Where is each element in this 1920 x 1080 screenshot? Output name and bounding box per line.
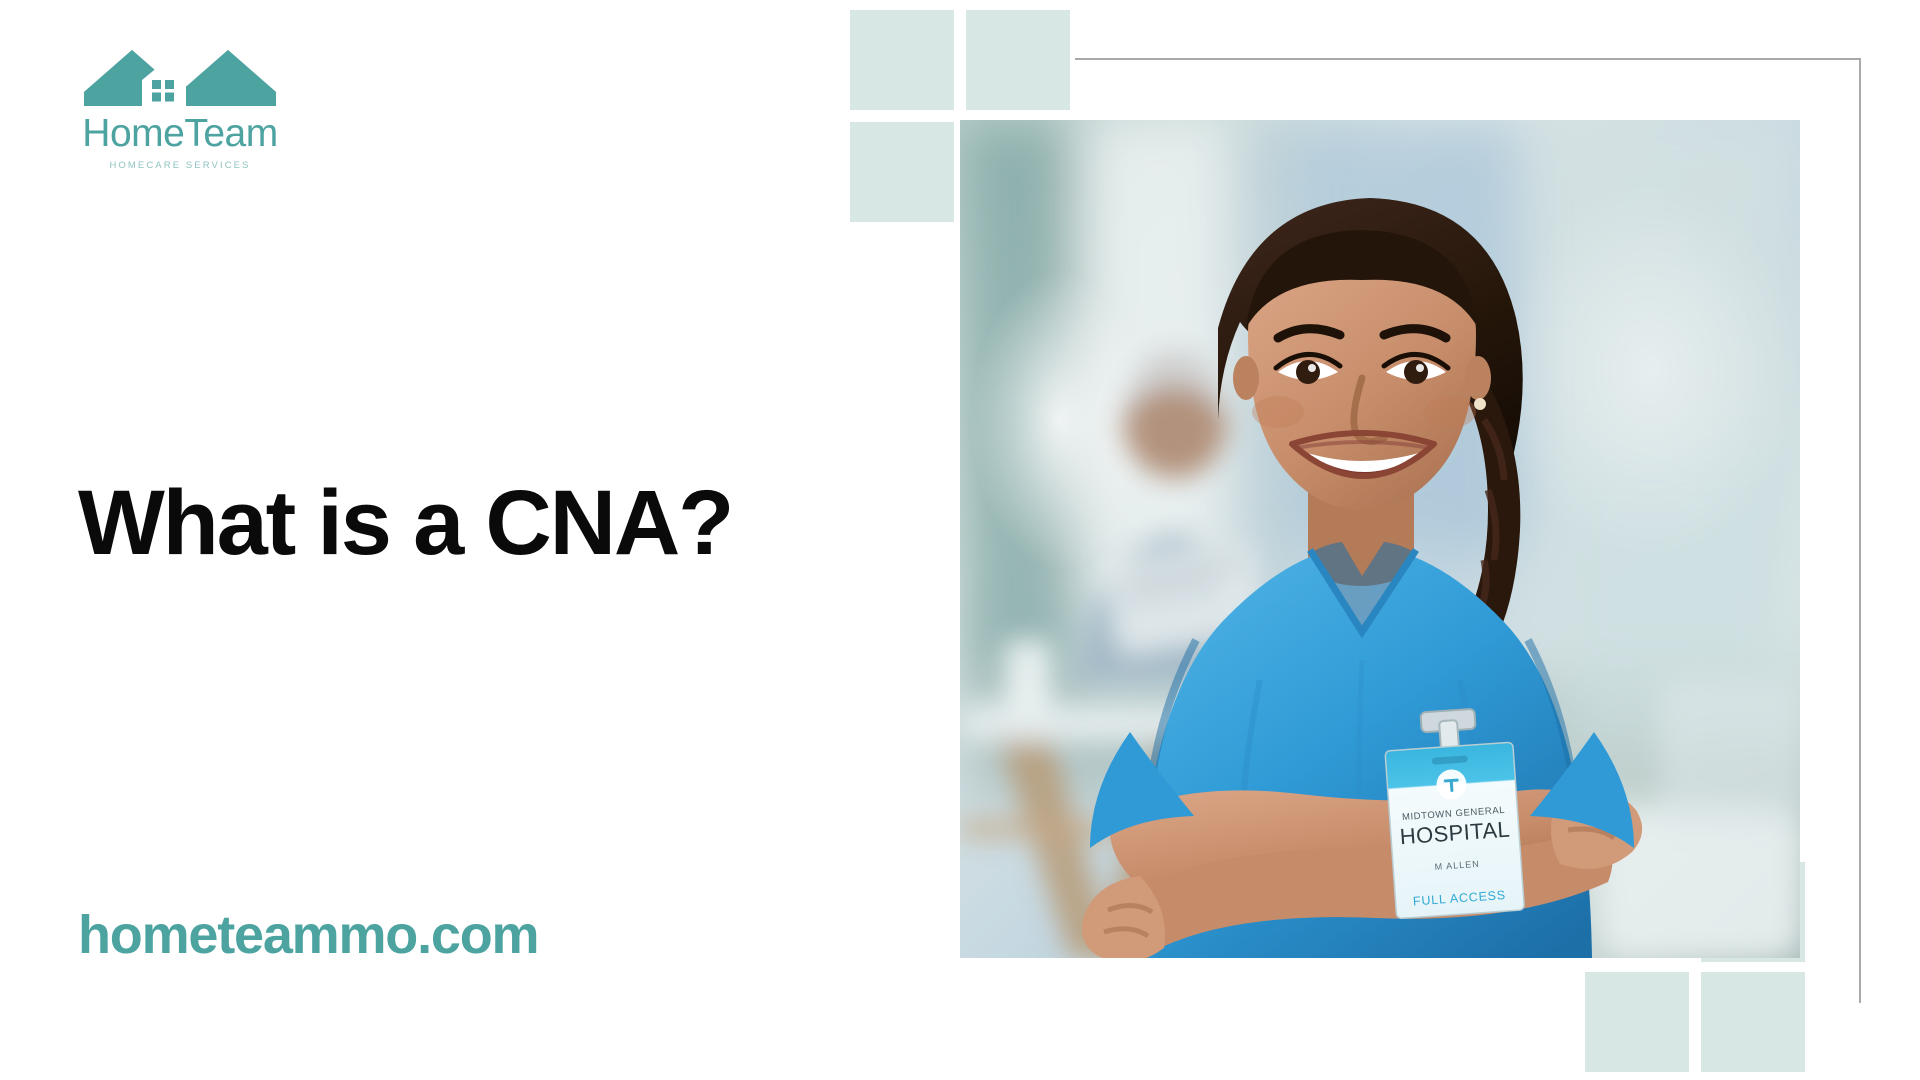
frame-line-top <box>1075 58 1861 60</box>
decor-square-bottom-3 <box>1701 972 1805 1072</box>
decor-square-top-1 <box>850 10 954 110</box>
logo-tagline: HOMECARE SERVICES <box>80 160 280 171</box>
logo-wordmark: HomeTeam <box>80 114 280 153</box>
photo-alt-text: Smiling nurse in blue scrubs with arms c… <box>0 0 1 1</box>
decor-square-top-3 <box>850 122 954 222</box>
decor-square-top-2 <box>966 10 1070 110</box>
house-roof-icon <box>80 40 280 112</box>
website-url: hometeammo.com <box>78 908 538 962</box>
decor-square-bottom-2 <box>1585 972 1689 1072</box>
frame-line-right <box>1859 58 1861 1003</box>
page-title: What is a CNA? <box>78 477 732 569</box>
hero-photo: MIDTOWN GENERAL HOSPITAL M ALLEN FULL AC… <box>960 120 1800 958</box>
brand-logo: HomeTeam HOMECARE SERVICES <box>80 40 295 171</box>
